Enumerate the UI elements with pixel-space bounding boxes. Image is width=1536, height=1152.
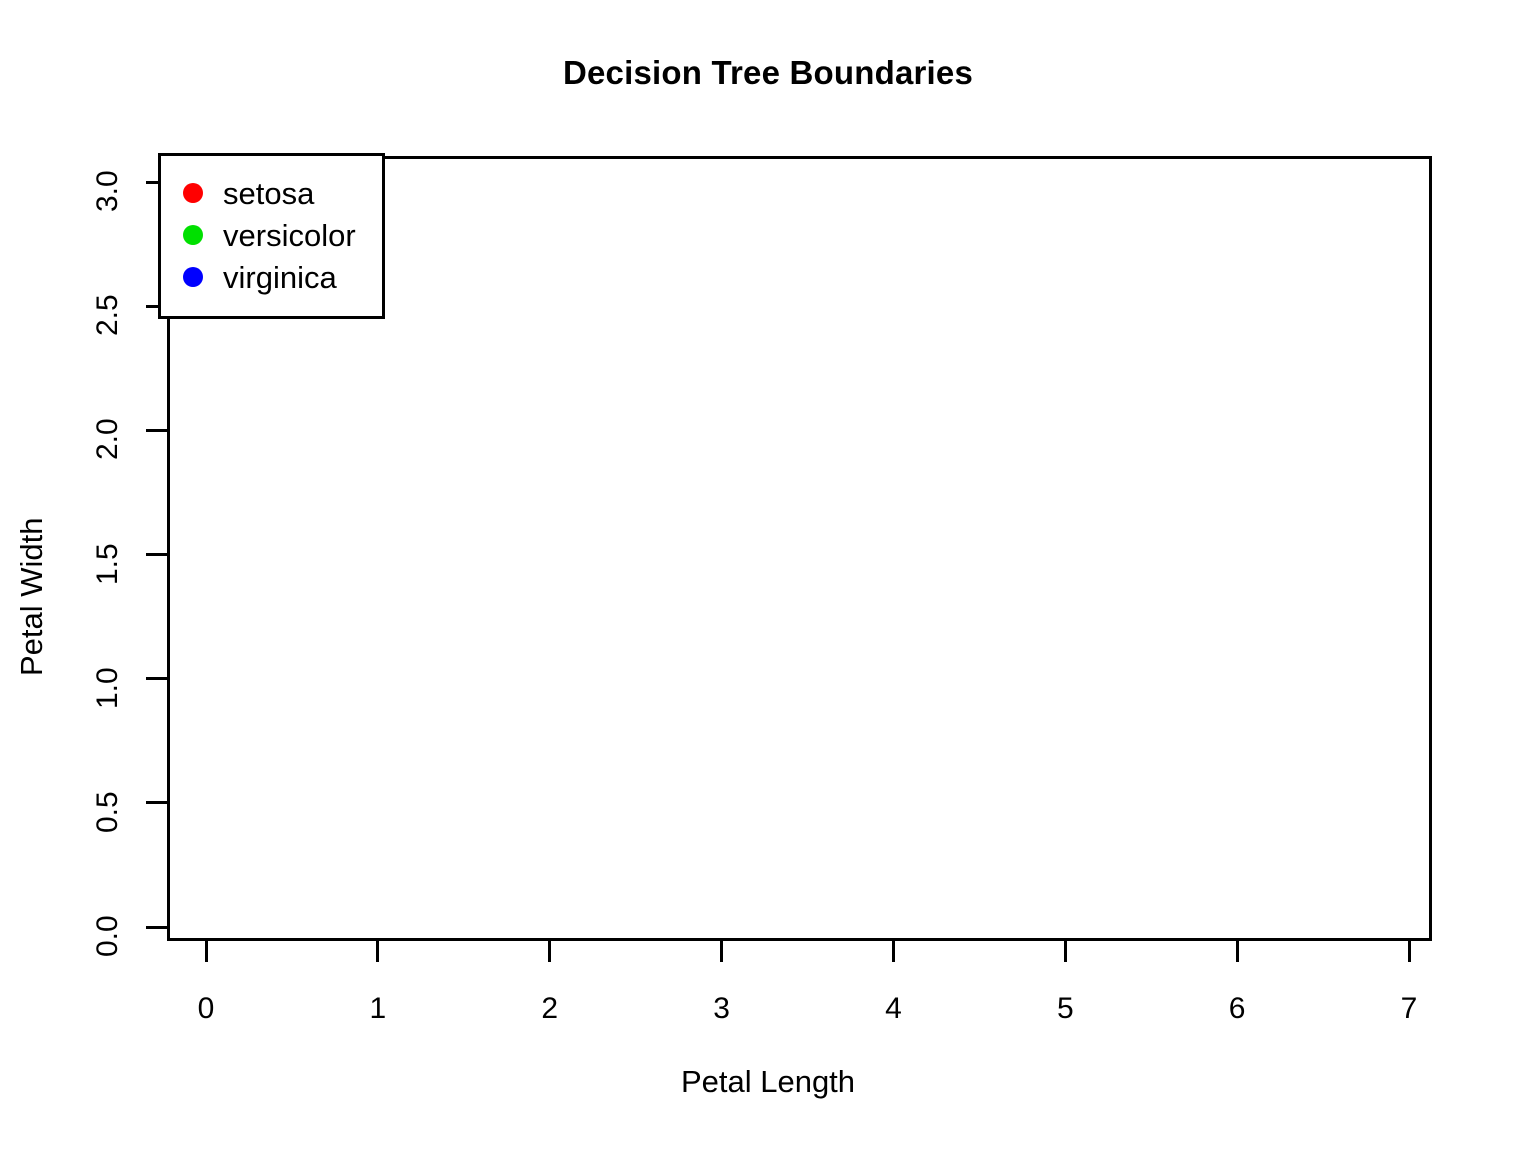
y-tick-label: 0.5 — [91, 791, 125, 833]
y-tick-mark — [146, 553, 167, 556]
x-tick-mark — [376, 941, 379, 962]
legend-marker-icon — [183, 225, 203, 245]
chart-title: Decision Tree Boundaries — [0, 54, 1536, 92]
x-tick-label: 6 — [1207, 992, 1267, 1026]
y-tick-label: 2.5 — [91, 294, 125, 336]
x-tick-label: 3 — [692, 992, 752, 1026]
x-tick-label: 5 — [1035, 992, 1095, 1026]
x-tick-mark — [205, 941, 208, 962]
x-tick-label: 2 — [520, 992, 580, 1026]
legend: setosaversicolorvirginica — [158, 153, 385, 319]
x-tick-mark — [892, 941, 895, 962]
y-tick-mark — [146, 677, 167, 680]
y-tick-mark — [146, 926, 167, 929]
chart-canvas: Decision Tree Boundaries 012345670.00.51… — [0, 0, 1536, 1152]
x-tick-mark — [1236, 941, 1239, 962]
y-axis-title: Petal Width — [14, 517, 50, 676]
y-tick-label: 0.0 — [91, 915, 125, 957]
y-tick-mark — [146, 429, 167, 432]
y-tick-label: 2.0 — [91, 419, 125, 461]
legend-label: setosa — [223, 178, 314, 209]
legend-item-versicolor: versicolor — [183, 214, 356, 256]
legend-marker-icon — [183, 183, 203, 203]
legend-item-setosa: setosa — [183, 172, 356, 214]
legend-label: virginica — [223, 262, 337, 293]
legend-label: versicolor — [223, 220, 356, 251]
x-tick-mark — [720, 941, 723, 962]
x-tick-mark — [1064, 941, 1067, 962]
legend-item-virginica: virginica — [183, 256, 356, 298]
x-tick-label: 0 — [176, 992, 236, 1026]
x-tick-label: 4 — [863, 992, 923, 1026]
x-tick-mark — [1408, 941, 1411, 962]
y-tick-mark — [146, 801, 167, 804]
y-tick-label: 3.0 — [91, 170, 125, 212]
x-tick-mark — [548, 941, 551, 962]
legend-marker-icon — [183, 267, 203, 287]
y-tick-label: 1.5 — [91, 543, 125, 585]
x-axis-title: Petal Length — [0, 1064, 1536, 1100]
x-tick-label: 7 — [1379, 992, 1439, 1026]
x-tick-label: 1 — [348, 992, 408, 1026]
y-tick-label: 1.0 — [91, 667, 125, 709]
